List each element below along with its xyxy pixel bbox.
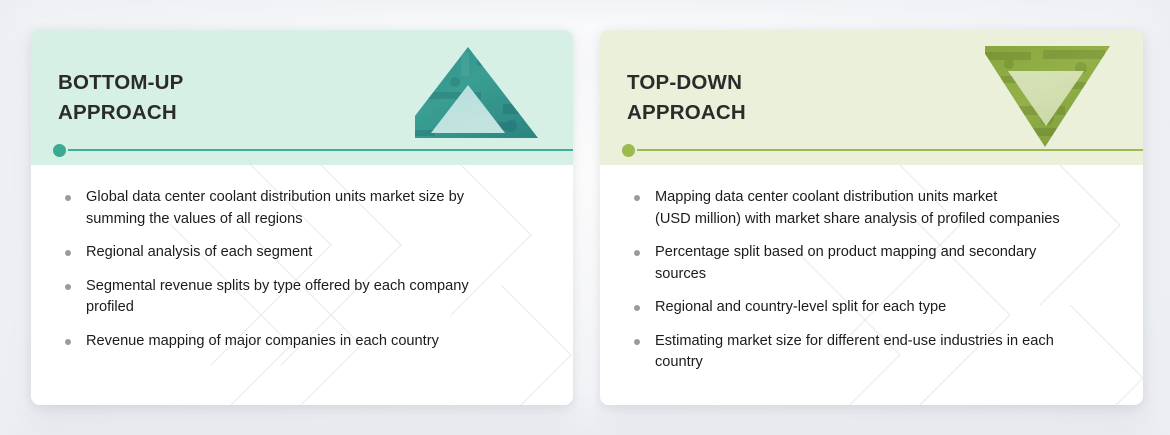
bullet-dot-icon [634, 305, 640, 311]
bullet-list-bottom-up: Global data center coolant distribution … [57, 187, 547, 352]
list-item: Mapping data center coolant distribution… [626, 187, 1117, 230]
accent-dot [622, 144, 635, 157]
upward-triangle-icon [415, 30, 565, 165]
list-item-label: Segmental revenue splits by type offered… [86, 276, 547, 319]
bullet-dot-icon [65, 195, 71, 201]
card-top-down-approach: TOP-DOWN APPROACH [600, 30, 1143, 405]
page-title: BOTTOM-UP APPROACH [58, 68, 184, 128]
header-accent-rule [58, 149, 573, 151]
list-item-label: Regional and country-level split for eac… [655, 297, 1117, 319]
header-accent-rule [627, 149, 1143, 151]
list-item: Global data center coolant distribution … [57, 187, 547, 230]
accent-dot [53, 144, 66, 157]
list-item-label: Estimating market size for different end… [655, 331, 1117, 374]
list-item: Segmental revenue splits by type offered… [57, 276, 547, 319]
bullet-dot-icon [65, 250, 71, 256]
approach-comparison-board: BOTTOM-UP APPROACH [0, 0, 1170, 435]
list-item: Regional analysis of each segment [57, 242, 547, 264]
bullet-dot-icon [634, 195, 640, 201]
list-item: Percentage split based on product mappin… [626, 242, 1117, 285]
downward-triangle-icon [985, 30, 1135, 165]
list-item-label: Mapping data center coolant distribution… [655, 187, 1117, 230]
card-body-top-down: Mapping data center coolant distribution… [600, 165, 1143, 405]
bullet-dot-icon [65, 339, 71, 345]
bullet-dot-icon [634, 250, 640, 256]
card-bottom-up-approach: BOTTOM-UP APPROACH [31, 30, 573, 405]
list-item: Regional and country-level split for eac… [626, 297, 1117, 319]
list-item: Revenue mapping of major companies in ea… [57, 331, 547, 353]
list-item-label: Percentage split based on product mappin… [655, 242, 1117, 285]
page-title: TOP-DOWN APPROACH [627, 68, 746, 128]
list-item: Estimating market size for different end… [626, 331, 1117, 374]
list-item-label: Regional analysis of each segment [86, 242, 547, 264]
list-item-label: Global data center coolant distribution … [86, 187, 547, 230]
bullet-list-top-down: Mapping data center coolant distribution… [626, 187, 1117, 374]
card-header-top-down: TOP-DOWN APPROACH [600, 30, 1143, 165]
accent-line [68, 149, 573, 151]
bullet-dot-icon [65, 284, 71, 290]
card-body-bottom-up: Global data center coolant distribution … [31, 165, 573, 405]
card-header-bottom-up: BOTTOM-UP APPROACH [31, 30, 573, 165]
accent-line [637, 149, 1143, 151]
list-item-label: Revenue mapping of major companies in ea… [86, 331, 547, 353]
bullet-dot-icon [634, 339, 640, 345]
